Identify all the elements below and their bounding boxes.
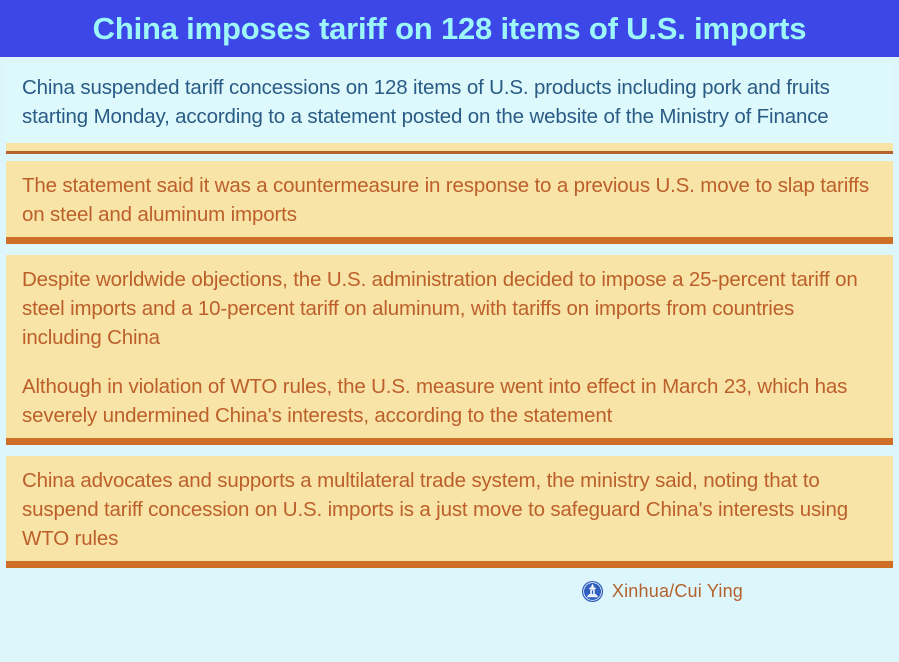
paragraph: China suspended tariff concessions on 12…: [22, 73, 877, 131]
content-block-multilateral: China advocates and supports a multilate…: [6, 456, 893, 561]
credit-text: Xinhua/Cui Ying: [612, 581, 743, 602]
divider-thick-3: [6, 561, 893, 568]
header-banner: China imposes tariff on 128 items of U.S…: [0, 0, 899, 57]
infographic-poster: China imposes tariff on 128 items of U.S…: [0, 0, 899, 662]
gap-1: [6, 154, 893, 161]
paragraph: China advocates and supports a multilate…: [22, 466, 877, 553]
paragraph: The statement said it was a countermeasu…: [22, 171, 877, 229]
content-block-countermeasure: The statement said it was a countermeasu…: [6, 161, 893, 237]
accent-strip: [6, 143, 893, 151]
xinhua-logo-icon: [581, 580, 604, 603]
gap-3: [6, 445, 893, 456]
content-block-lead: China suspended tariff concessions on 12…: [6, 63, 893, 143]
gap-2: [6, 244, 893, 255]
content-area: China suspended tariff concessions on 12…: [0, 57, 899, 662]
divider-thick-2: [6, 438, 893, 445]
content-block-us-tariffs: Despite worldwide objections, the U.S. a…: [6, 255, 893, 438]
divider-thick-1: [6, 237, 893, 244]
paragraph: Despite worldwide objections, the U.S. a…: [22, 265, 877, 352]
credit: Xinhua/Cui Ying: [581, 580, 743, 603]
footer-credit-bar: Xinhua/Cui Ying: [6, 568, 893, 614]
paragraph: Although in violation of WTO rules, the …: [22, 372, 877, 430]
page-title: China imposes tariff on 128 items of U.S…: [87, 13, 813, 44]
